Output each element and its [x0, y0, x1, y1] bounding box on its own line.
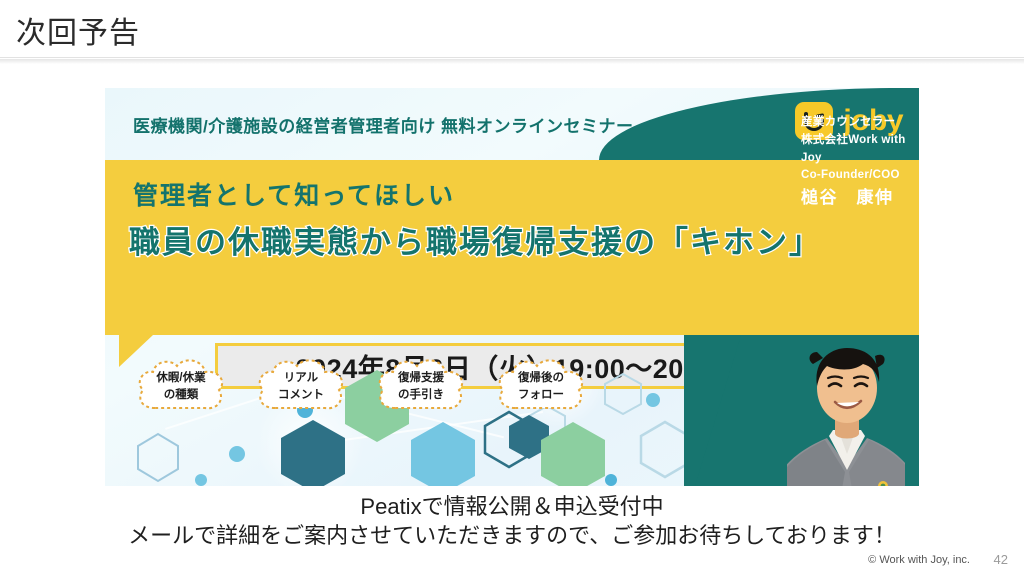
topic-bubble-text: 復帰支援 の手引き — [373, 370, 469, 403]
yellow-title-block: 管理者として知ってほしい 職員の休職実態から職場復帰支援の「キホン」 2024年… — [105, 160, 919, 335]
presenter-photo — [787, 346, 905, 486]
topic-bubble: リアル コメント — [253, 356, 349, 418]
copyright-text: © Work with Joy, inc. — [868, 554, 970, 566]
slide-header: 次回予告 — [0, 0, 1024, 58]
seminar-banner: 医療機関/介護施設の経営者管理者向け 無料オンラインセミナー joby 管理者と… — [105, 88, 919, 486]
page-title: 次回予告 — [16, 8, 140, 52]
banner-eyebrow: 医療機関/介護施設の経営者管理者向け 無料オンラインセミナー — [133, 112, 633, 137]
header-divider-shadow — [0, 59, 1024, 64]
presenter-role: 産業カウンセラー — [801, 114, 919, 132]
presenter-company: 株式会社Work with Joy — [801, 132, 919, 168]
presenter-credentials: 産業カウンセラー 株式会社Work with Joy Co-Founder/CO… — [801, 114, 919, 185]
cta-line-2: メールで詳細をご案内させていただきますので、ご参加お待ちしております！ — [0, 518, 1024, 550]
banner-title-line-2: 職員の休職実態から職場復帰支援の「キホン」 — [129, 217, 822, 262]
topic-bubble: 休暇/休業 の種類 — [133, 356, 229, 418]
presenter-name: 槌谷 康伸 — [801, 183, 894, 208]
page-number: 42 — [994, 552, 1008, 567]
topic-bubble-text: 休暇/休業 の種類 — [133, 370, 229, 403]
topic-bubble: 復帰支援 の手引き — [373, 356, 469, 418]
cta-line-1: Peatixで情報公開＆申込受付中 — [0, 489, 1024, 521]
banner-title-line-1: 管理者として知ってほしい — [133, 176, 455, 212]
topic-bubble-text: 復帰後の フォロー — [493, 370, 589, 403]
topic-bubble-text: リアル コメント — [253, 370, 349, 403]
topic-bubble: 復帰後の フォロー — [493, 356, 589, 418]
